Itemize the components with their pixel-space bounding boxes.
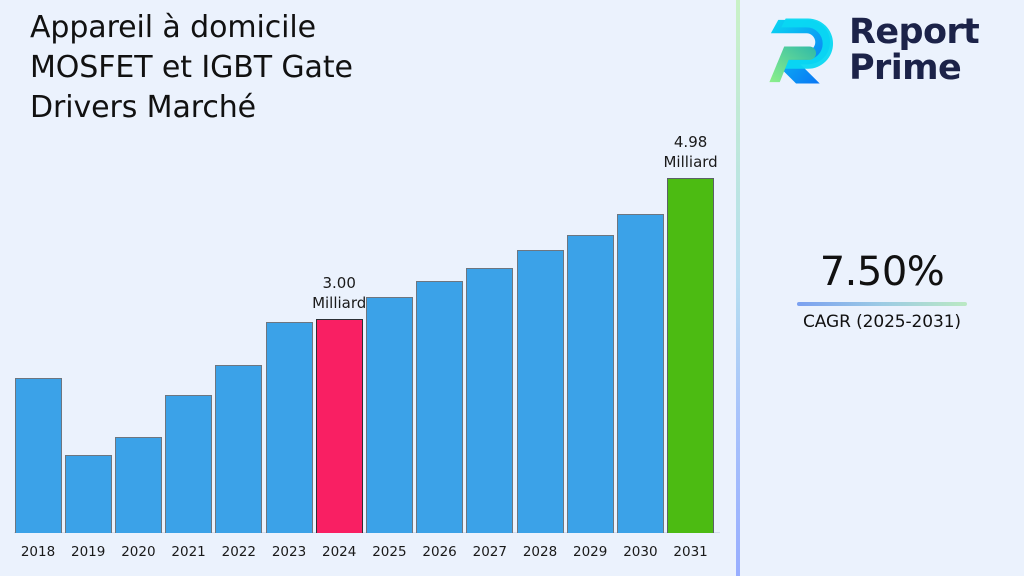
bar-2027[interactable] — [466, 268, 513, 533]
bar-2020[interactable] — [115, 437, 162, 533]
bar-2021[interactable] — [165, 395, 212, 533]
bar-column-2024[interactable]: 3.00 Milliard — [316, 319, 363, 533]
bar-2024[interactable]: 3.00 Milliard — [316, 319, 363, 533]
bar-2028[interactable] — [517, 250, 564, 533]
cagr-divider-rule — [797, 302, 967, 306]
bar-column-2025[interactable] — [366, 297, 413, 533]
bar-2022[interactable] — [215, 365, 262, 533]
bar-column-2022[interactable] — [215, 365, 262, 533]
bar-column-2029[interactable] — [567, 235, 614, 533]
bar-column-2019[interactable] — [65, 455, 112, 533]
bar-column-2021[interactable] — [165, 395, 212, 533]
bar-value-label-2031: 4.98 Milliard — [636, 133, 746, 172]
bar-2018[interactable] — [15, 378, 62, 533]
bar-2019[interactable] — [65, 455, 112, 533]
bar-2030[interactable] — [617, 214, 664, 533]
bar-chart-plot: 2018201920202021202220233.00 Milliard202… — [0, 0, 737, 576]
bar-2029[interactable] — [567, 235, 614, 533]
cagr-caption: CAGR (2025-2031) — [740, 312, 1024, 332]
bar-column-2026[interactable] — [416, 281, 463, 533]
report-prime-r-logo-icon — [762, 14, 836, 88]
chart-canvas: Appareil à domicile MOSFET et IGBT Gate … — [0, 0, 1024, 576]
bar-column-2028[interactable] — [517, 250, 564, 533]
bar-column-2031[interactable]: 4.98 Milliard — [667, 178, 714, 533]
cagr-block: 7.50% CAGR (2025-2031) — [740, 250, 1024, 332]
brand-wordmark: Report Prime — [849, 15, 979, 86]
bar-2031[interactable]: 4.98 Milliard — [667, 178, 714, 533]
chart-right-panel: Report Prime 7.50% CAGR (2025-2031) — [740, 0, 1024, 576]
cagr-value: 7.50% — [740, 250, 1024, 295]
bar-2025[interactable] — [366, 297, 413, 533]
x-axis-tick-2031: 2031 — [661, 544, 721, 560]
bar-column-2027[interactable] — [466, 268, 513, 533]
bar-2023[interactable] — [266, 322, 313, 533]
bar-2026[interactable] — [416, 281, 463, 533]
chart-left-panel: Appareil à domicile MOSFET et IGBT Gate … — [0, 0, 737, 576]
brand-logo: Report Prime — [762, 14, 979, 88]
bar-column-2023[interactable] — [266, 322, 313, 533]
bar-column-2018[interactable] — [15, 378, 62, 533]
bar-column-2030[interactable] — [617, 214, 664, 533]
bar-column-2020[interactable] — [115, 437, 162, 533]
